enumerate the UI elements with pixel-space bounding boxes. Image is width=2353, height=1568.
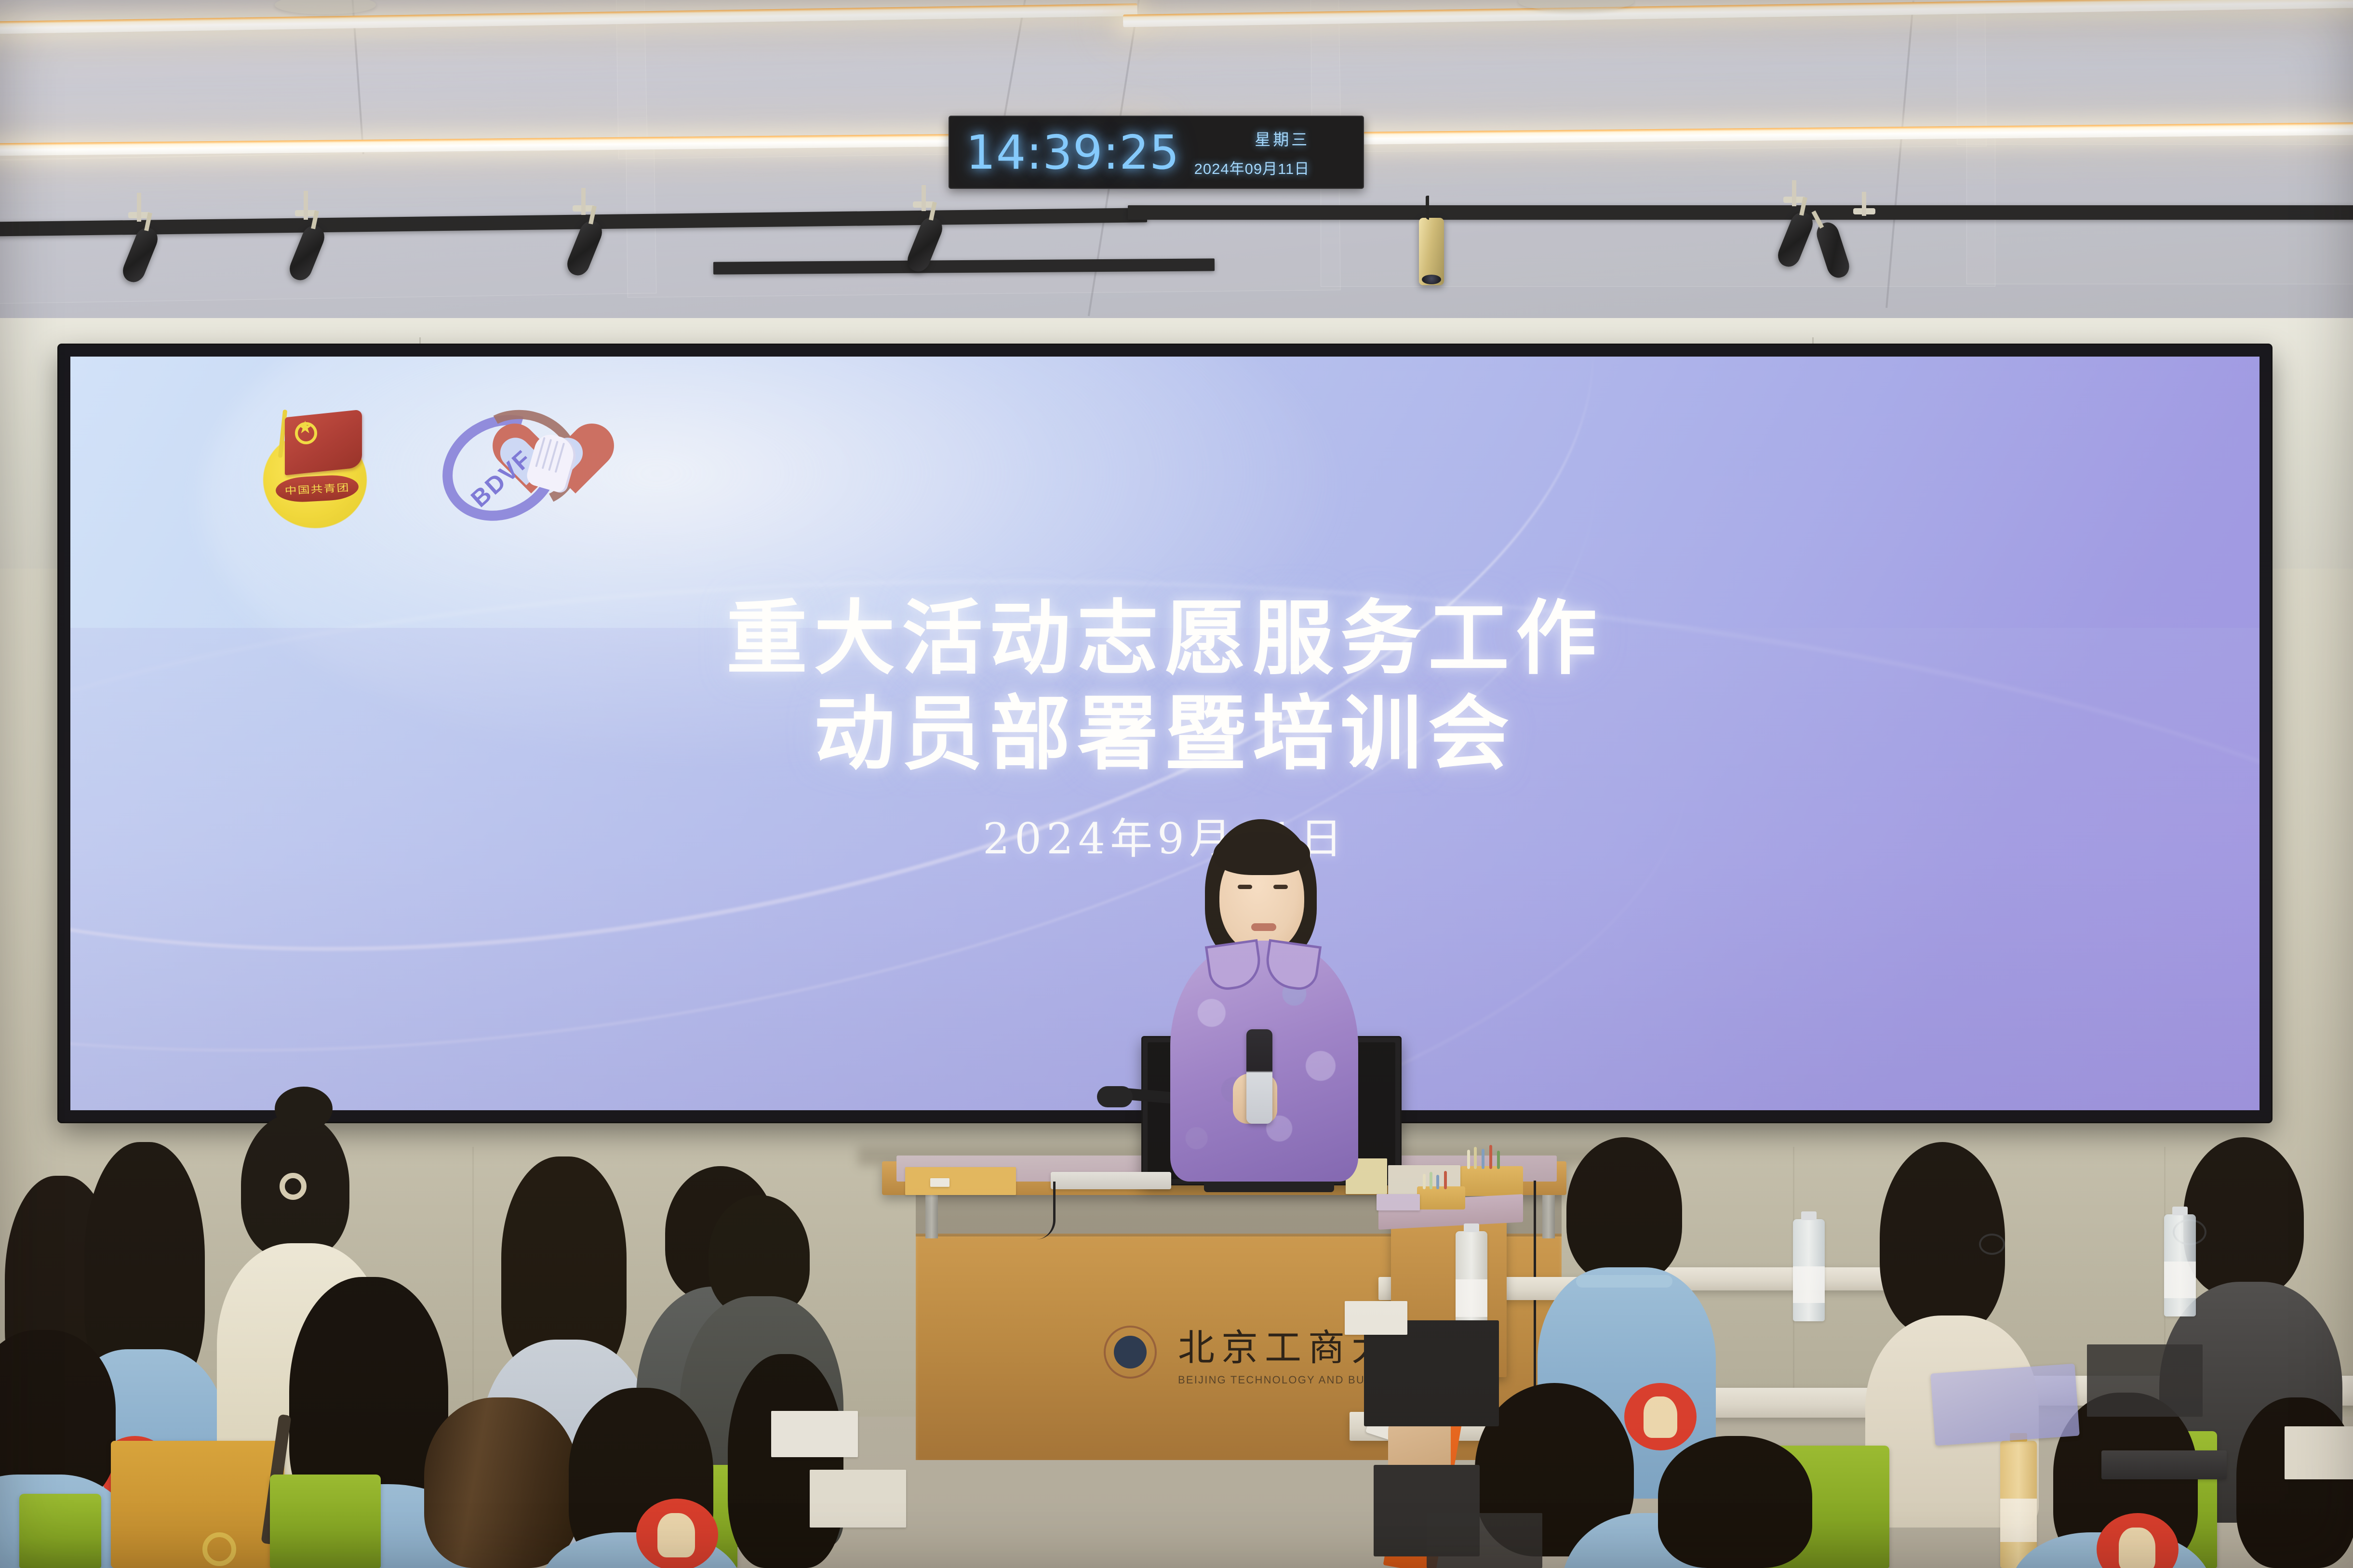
hair-clip-icon xyxy=(280,1173,307,1200)
audience-hair xyxy=(424,1397,578,1568)
spot-rod xyxy=(1862,192,1866,216)
wall-seam xyxy=(472,1147,474,1417)
bdvf-volunteer-logo-icon: BDVF xyxy=(441,413,595,524)
presenter xyxy=(1152,819,1374,1185)
presenter-eye-right xyxy=(1273,885,1288,889)
desk-notebook[interactable] xyxy=(810,1470,906,1528)
desk-modesty-panel xyxy=(2087,1344,2203,1417)
eyeglasses-icon xyxy=(1979,1234,2005,1255)
audience-hair xyxy=(2183,1137,2304,1296)
audience-hair-bun xyxy=(275,1087,333,1131)
camera-cable xyxy=(1426,196,1429,220)
side-podium-paper[interactable] xyxy=(1377,1194,1420,1210)
presenter-mouth xyxy=(1251,923,1276,931)
spot-rod xyxy=(1792,180,1796,206)
lectern-note-card[interactable] xyxy=(930,1178,949,1187)
slide-title-line2: 动员部署暨培训会 xyxy=(70,686,2259,782)
spot-rod xyxy=(922,185,926,211)
audience-keyboard[interactable] xyxy=(2101,1450,2227,1479)
laptop[interactable] xyxy=(1364,1320,1499,1426)
ceiling-camera[interactable] xyxy=(1419,218,1444,285)
audience-chair[interactable] xyxy=(19,1494,101,1568)
bag-buckle-icon xyxy=(202,1532,236,1566)
desk-modesty-panel xyxy=(1427,1513,1542,1568)
desk-notebook[interactable] xyxy=(2285,1426,2353,1479)
water-bottle[interactable] xyxy=(2164,1214,2196,1316)
desk-document[interactable] xyxy=(1345,1301,1407,1335)
audience-chair[interactable] xyxy=(270,1475,381,1568)
pen-holder[interactable] xyxy=(1460,1166,1523,1196)
audience-hair xyxy=(1658,1436,1812,1568)
side-podium-pen-holder[interactable] xyxy=(1417,1186,1465,1209)
lecture-hall-photo: 14:39:25 星期三 2024年09月11日 中国共青团 xyxy=(0,0,2353,1568)
presenter-fringe xyxy=(1214,832,1310,875)
clock-time: 14:39:25 xyxy=(966,129,1180,176)
camera-lens xyxy=(1422,275,1441,284)
handheld-microphone[interactable] xyxy=(1246,1029,1272,1124)
audience-hair xyxy=(1566,1137,1682,1282)
digital-clock: 14:39:25 星期三 2024年09月11日 xyxy=(949,116,1364,189)
water-bottle[interactable] xyxy=(1456,1231,1487,1335)
volunteer-heart-logo-icon xyxy=(636,1499,718,1568)
gooseneck-mic-head[interactable] xyxy=(1097,1086,1133,1107)
clock-date: 2024年09月11日 xyxy=(1194,157,1310,178)
audience-hair xyxy=(728,1354,843,1568)
document-pouch[interactable] xyxy=(1930,1364,2080,1446)
audience-hair xyxy=(2236,1397,2353,1568)
slide-title-line1: 重大活动志愿服务工作 xyxy=(70,591,2259,686)
presenter-eye-left xyxy=(1238,885,1252,889)
lectern-paper[interactable] xyxy=(905,1167,1016,1195)
slide-logo-group: 中国共青团 BDVF xyxy=(258,409,595,529)
communist-youth-league-emblem-icon: 中国共青团 xyxy=(258,409,384,529)
water-bottle[interactable] xyxy=(1793,1219,1825,1321)
spot-rod xyxy=(304,191,308,220)
cyl-ribbon-text: 中国共青团 xyxy=(284,480,350,497)
lectern-leg xyxy=(925,1195,938,1238)
clock-weekday: 星期三 xyxy=(1255,127,1310,150)
slide-title: 重大活动志愿服务工作 动员部署暨培训会 xyxy=(70,591,2259,782)
tote-bag[interactable] xyxy=(111,1441,284,1568)
lighting-track xyxy=(1128,205,2353,220)
water-bottle[interactable] xyxy=(2000,1441,2037,1568)
lectern-cable xyxy=(1022,1182,1056,1239)
spot-rod xyxy=(581,188,586,215)
volunteer-heart-logo-icon xyxy=(1624,1383,1697,1450)
desk-document[interactable] xyxy=(771,1411,858,1457)
btbu-seal-icon xyxy=(1104,1326,1157,1379)
spot-rod xyxy=(137,193,141,222)
volunteer-vest-collar xyxy=(1576,1275,1672,1288)
clock-date-block: 星期三 2024年09月11日 xyxy=(1194,127,1310,178)
